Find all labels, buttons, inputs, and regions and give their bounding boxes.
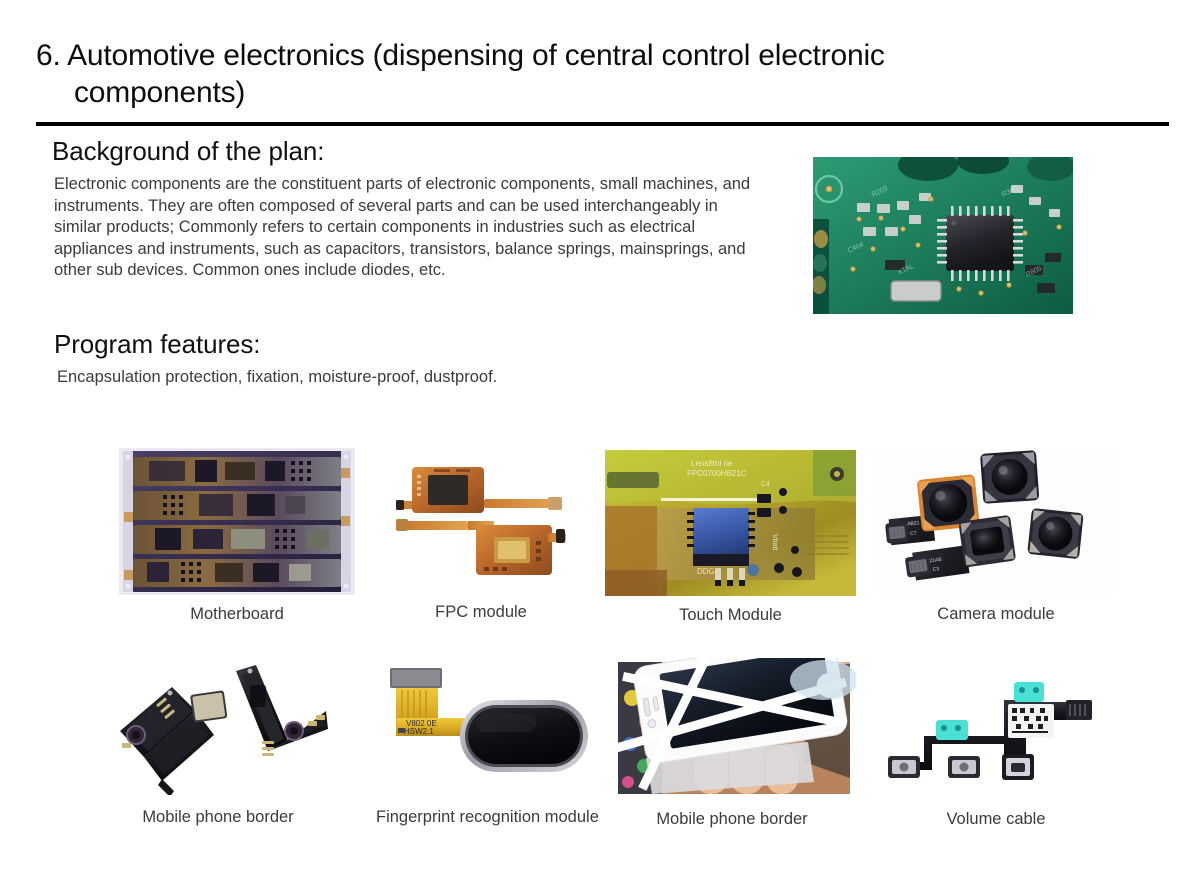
gallery-caption-fpc: FPC module <box>392 603 570 622</box>
page-title-line2: components) <box>36 75 1156 112</box>
fpc-flex-circuit-photo <box>392 455 570 585</box>
motherboard-panel-photo <box>119 448 355 595</box>
white-phone-front-panel-photo <box>608 658 856 798</box>
svg-text:Vbatt: Vbatt <box>771 534 778 550</box>
volume-button-flex-cable-photo <box>880 658 1112 796</box>
background-section-heading: Background of the plan: <box>52 136 324 167</box>
features-section-heading: Program features: <box>54 329 260 360</box>
green-pcb-with-ic-chip-photo: R203 C404 XTAL R306 R605 <box>813 157 1073 314</box>
svg-text:Lens8thi ne: Lens8thi ne <box>691 459 733 468</box>
page-title-line1: 6. Automotive electronics (dispensing of… <box>36 39 885 72</box>
gallery-caption-touch: Touch Module <box>605 606 856 625</box>
gallery-caption-camera: Camera module <box>876 605 1116 624</box>
svg-text:C3: C3 <box>932 566 939 573</box>
gallery-caption-phone-border-2: Mobile phone border <box>608 810 856 829</box>
svg-text:C7: C7 <box>910 530 917 537</box>
product-gallery: Motherboard <box>0 0 1200 870</box>
svg-text:FPC0700HB21C: FPC0700HB21C <box>687 469 747 478</box>
camera-modules-photo: AB21C7 <box>876 450 1116 593</box>
svg-text:DDG: DDG <box>697 567 715 576</box>
fingerprint-sensor-flex-photo: V802 0E HSW2.1 <box>376 660 596 793</box>
gallery-caption-motherboard: Motherboard <box>119 605 355 624</box>
background-section-paragraph: Electronic components are the constituen… <box>54 174 760 282</box>
svg-text:HSW2.1: HSW2.1 <box>404 727 434 736</box>
touch-module-flex-pcb-photo: Lens8thi ne FPC0700HB21C C4 Vbatt DDG <box>605 450 856 596</box>
gallery-caption-phone-border-1: Mobile phone border <box>104 808 332 827</box>
svg-text:C4: C4 <box>761 481 770 488</box>
phone-border-black-frames-photo <box>104 655 332 795</box>
gallery-caption-fingerprint: Fingerprint recognition module <box>376 808 596 827</box>
page-title: 6. Automotive electronics (dispensing of… <box>36 38 1156 111</box>
features-section-paragraph: Encapsulation protection, fixation, mois… <box>57 367 757 388</box>
gallery-caption-volume-cable: Volume cable <box>880 810 1112 829</box>
title-divider-rule <box>36 122 1169 126</box>
